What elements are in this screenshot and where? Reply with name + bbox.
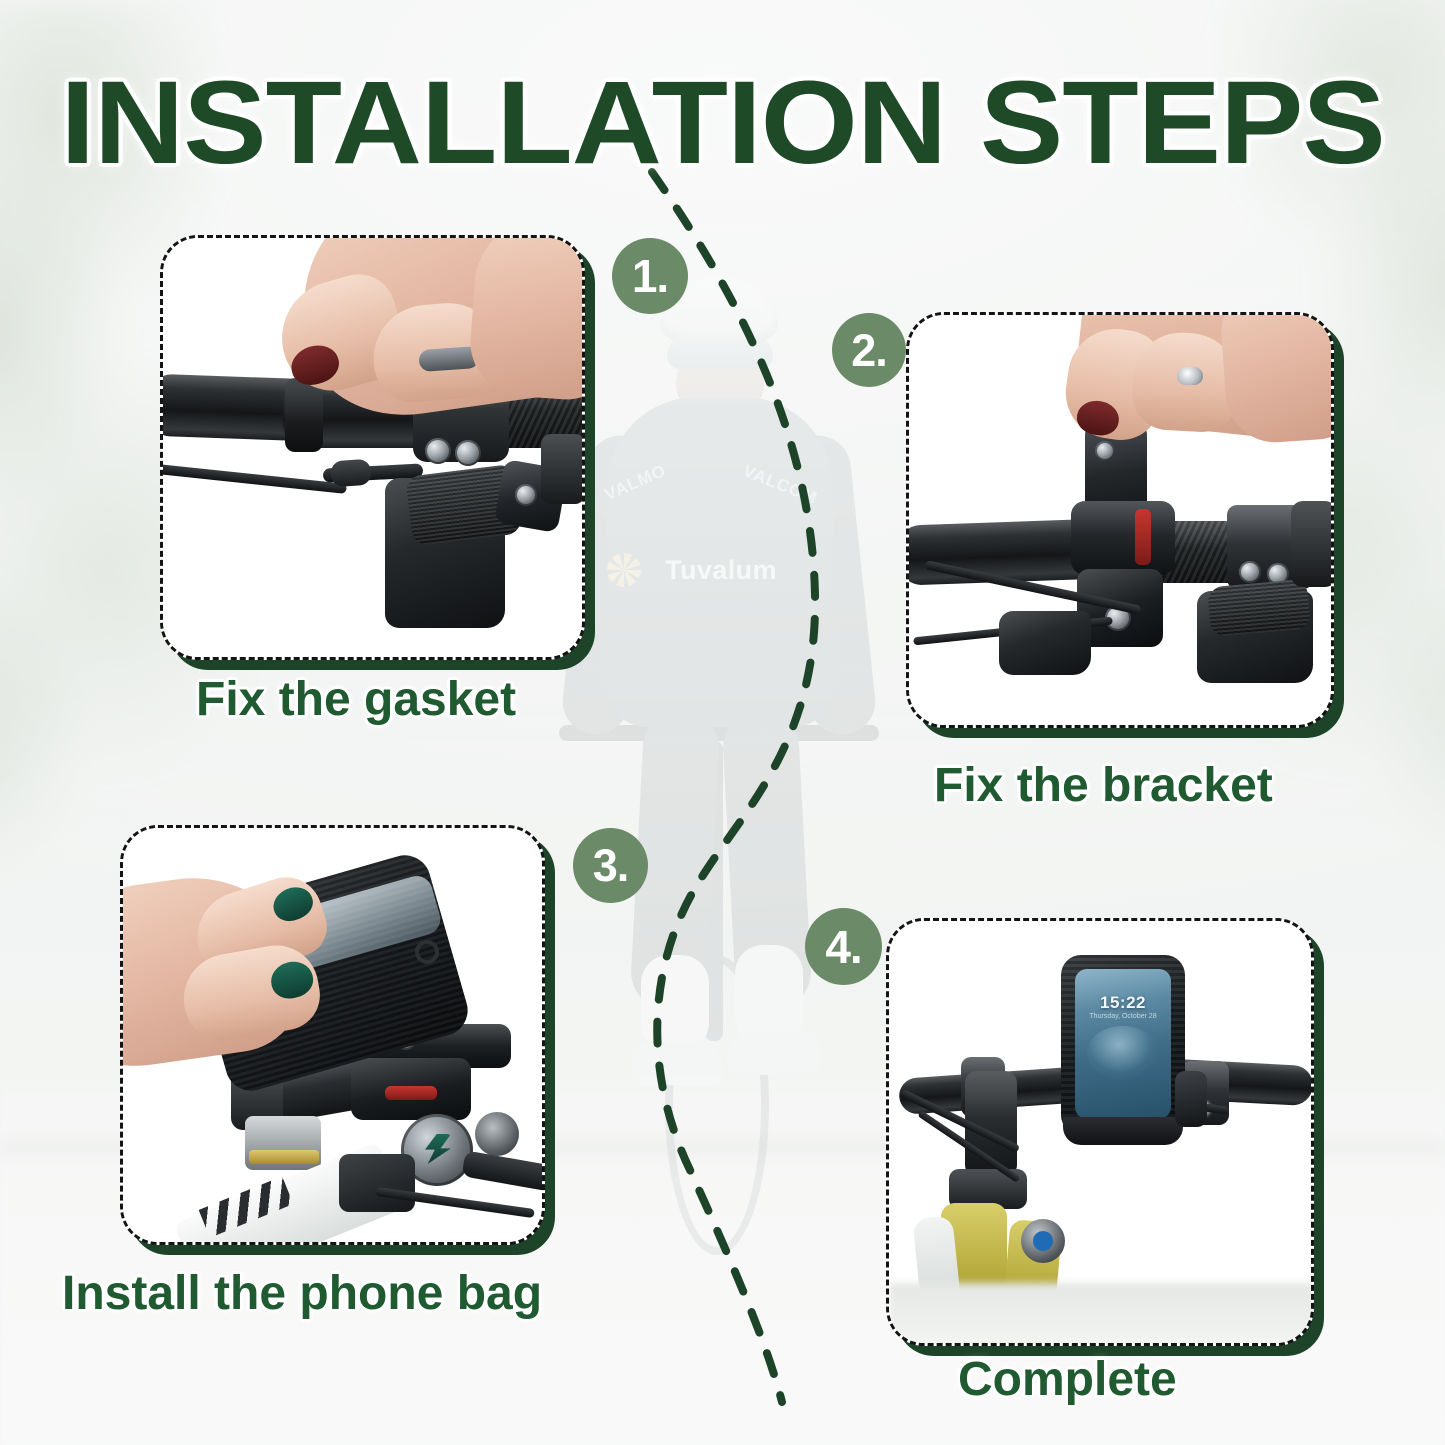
step-badge-3: 3. — [573, 828, 648, 903]
cable-ferrule — [330, 459, 372, 488]
left-shifter-body — [999, 611, 1091, 675]
bracket-clamp-collar — [1071, 501, 1175, 575]
step-caption-4: Complete — [958, 1352, 1177, 1407]
right-bar-end — [1291, 501, 1331, 587]
brake-cable — [163, 464, 347, 494]
step-caption-1: Fix the gasket — [196, 672, 516, 727]
bracket-arm-bolt — [515, 484, 537, 506]
red-accent-ring — [385, 1086, 437, 1100]
phone-clock: 15:22 — [1075, 993, 1171, 1013]
step-card-2-frame — [906, 312, 1334, 728]
ring-jewelry — [1177, 367, 1203, 385]
step-card-2 — [906, 312, 1334, 728]
clamp-bolt-right — [455, 440, 481, 466]
red-accent-ring — [1135, 509, 1151, 565]
step-card-4: 15:22 Thursday, October 28 — [886, 918, 1314, 1346]
clamp-bolt-left — [425, 438, 451, 464]
bag-mount-block — [1175, 1071, 1207, 1127]
step-card-1 — [160, 235, 585, 660]
hand-back — [467, 238, 582, 403]
gold-spacer-ring — [249, 1150, 319, 1164]
step-card-2-photo — [909, 315, 1331, 725]
page-title: INSTALLATION STEPS — [0, 62, 1445, 186]
step-caption-3: Install the phone bag — [62, 1266, 542, 1321]
right-clamp-bolt-a — [1239, 561, 1261, 583]
bar-end-cap — [541, 434, 582, 504]
step-badge-4: 4. — [805, 908, 882, 985]
step-card-3-photo — [123, 828, 542, 1242]
lever-arm — [461, 1150, 542, 1191]
step-caption-2: Fix the bracket — [934, 758, 1273, 813]
bag-bottom-edge — [1063, 1117, 1183, 1145]
step-card-3-frame — [120, 825, 545, 1245]
blue-accent-dot — [1033, 1231, 1053, 1251]
side-knob — [475, 1112, 519, 1156]
step-card-4-frame: 15:22 Thursday, October 28 — [886, 918, 1314, 1346]
right-shifter-pad — [1207, 579, 1311, 638]
step-card-1-frame — [160, 235, 585, 660]
phone-screen: 15:22 Thursday, October 28 — [1075, 969, 1171, 1119]
step-badge-2: 2. — [832, 313, 906, 387]
step-badge-1: 1. — [612, 238, 688, 314]
rubber-gasket — [285, 378, 323, 452]
step-card-1-photo — [163, 238, 582, 657]
phone-date: Thursday, October 28 — [1075, 1013, 1171, 1020]
step-card-3 — [120, 825, 545, 1245]
shifter-unit — [339, 1154, 415, 1212]
installation-steps-poster: Tuvalum VALMO VALCOM INSTALLATION STEPS — [0, 0, 1445, 1445]
phone-wallpaper-orb — [1087, 1026, 1160, 1080]
step-card-4-photo: 15:22 Thursday, October 28 — [889, 921, 1311, 1343]
bracket-bolt-top — [1095, 441, 1115, 461]
photo-ground — [889, 1283, 1311, 1343]
